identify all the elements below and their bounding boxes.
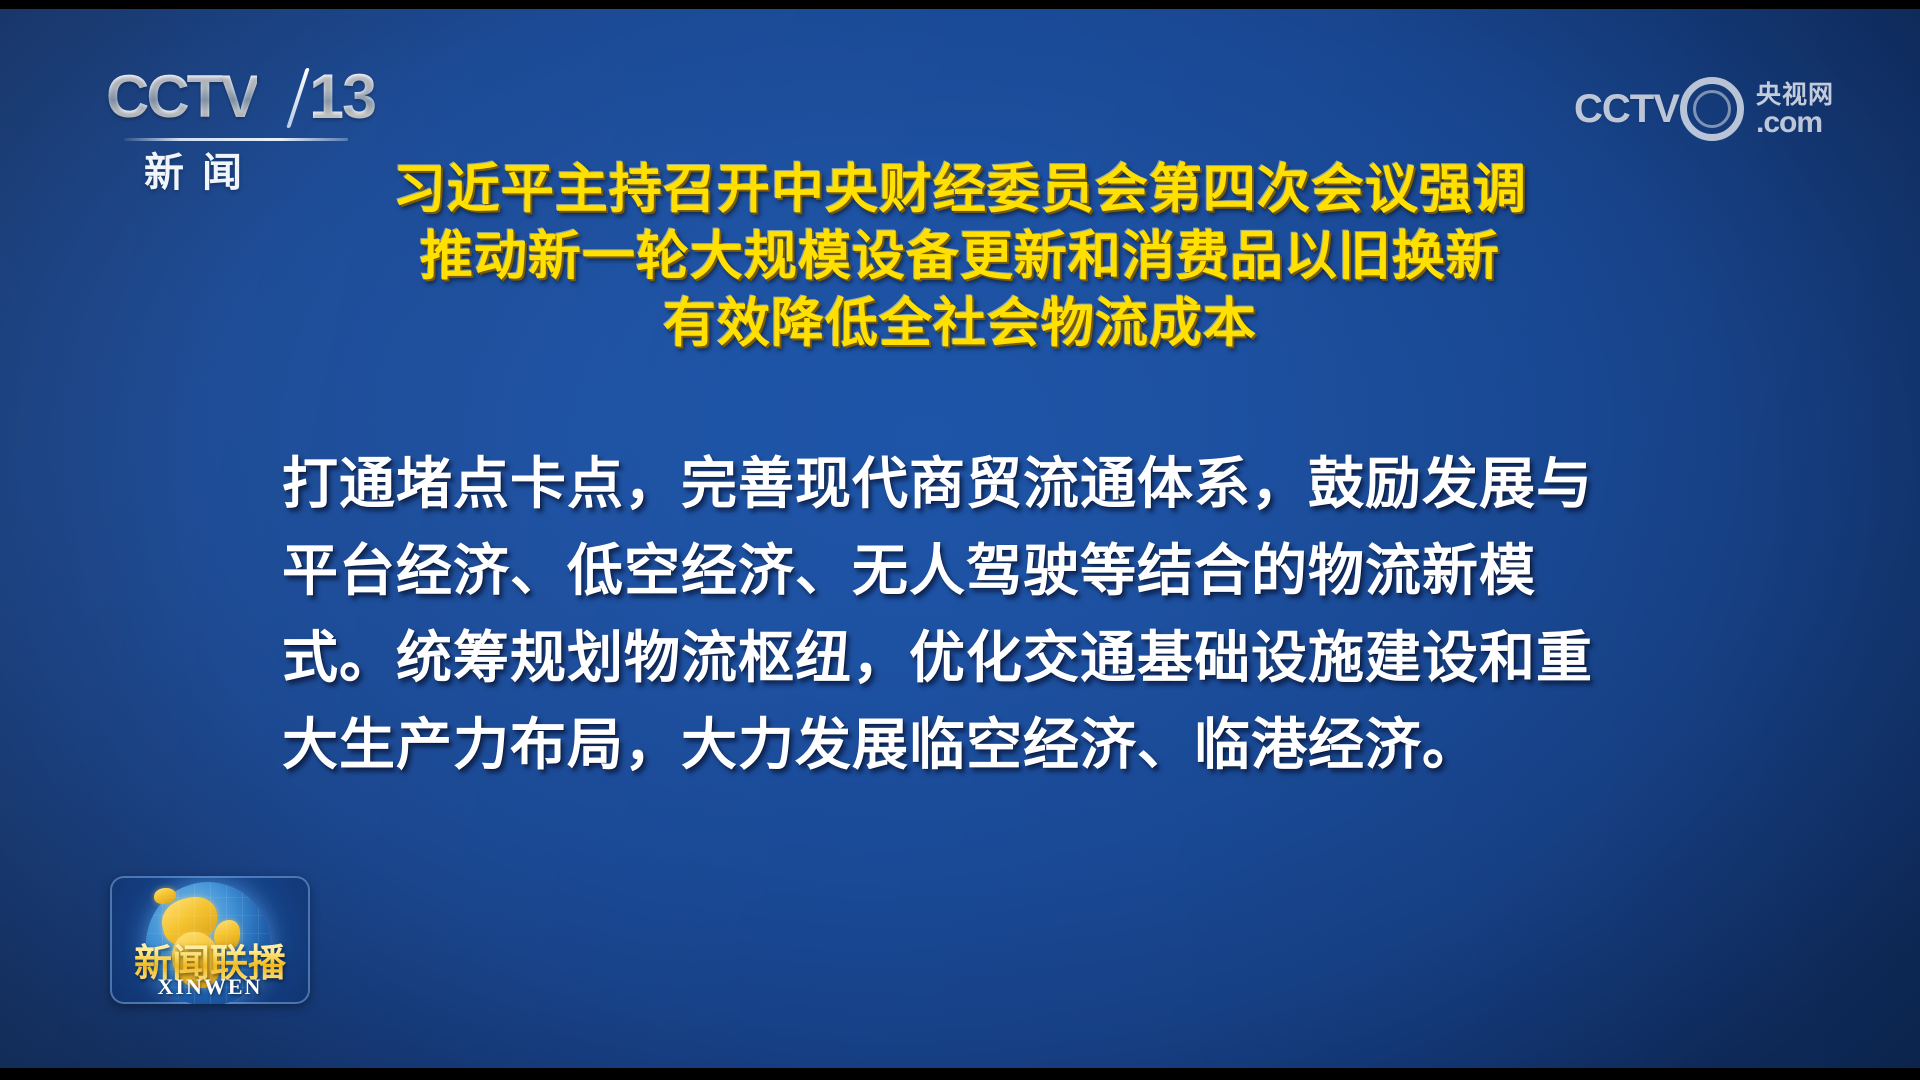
cctv-wordmark: CCTV [106, 62, 257, 131]
cctv-com-watermark: CCTV 央视网 .com [1574, 69, 1854, 149]
watermark-site-tld: .com [1756, 106, 1822, 140]
body-text-line: 式。统筹规划物流枢纽，优化交通基础设施建设和重 [282, 615, 1682, 702]
xinwen-lianbo-program-bug: 新闻联播 XINWEN LIANBO [110, 876, 310, 1004]
broadcast-screen: CCTV 13 新闻 CCTV 央视网 .com 习近平主持召开中央财经委员会第… [0, 0, 1920, 1080]
watermark-cctv-text: CCTV [1574, 87, 1679, 132]
logo-slash-divider [286, 68, 309, 128]
headline-line: 推动新一轮大规模设备更新和消费品以旧换新 [0, 223, 1920, 290]
channel-number: 13 [309, 61, 375, 133]
video-frame: CCTV 13 新闻 CCTV 央视网 .com 习近平主持召开中央财经委员会第… [0, 9, 1920, 1068]
body-text-block: 打通堵点卡点，完善现代商贸流通体系，鼓励发展与 平台经济、低空经济、无人驾驶等结… [282, 441, 1682, 789]
headline-block: 习近平主持召开中央财经委员会第四次会议强调 推动新一轮大规模设备更新和消费品以旧… [0, 156, 1920, 357]
body-text-line: 平台经济、低空经济、无人驾驶等结合的物流新模 [282, 528, 1682, 615]
letterbox-bar-top [0, 0, 1920, 9]
body-text-line: 打通堵点卡点，完善现代商贸流通体系，鼓励发展与 [282, 441, 1682, 528]
headline-line: 习近平主持召开中央财经委员会第四次会议强调 [0, 156, 1920, 223]
letterbox-bar-bottom [0, 1068, 1920, 1080]
headline-line: 有效降低全社会物流成本 [0, 290, 1920, 357]
body-text-line: 大生产力布局，大力发展临空经济、临港经济。 [282, 702, 1682, 789]
program-name-pinyin: XINWEN LIANBO [110, 974, 310, 1004]
watermark-ring-icon [1680, 77, 1744, 141]
